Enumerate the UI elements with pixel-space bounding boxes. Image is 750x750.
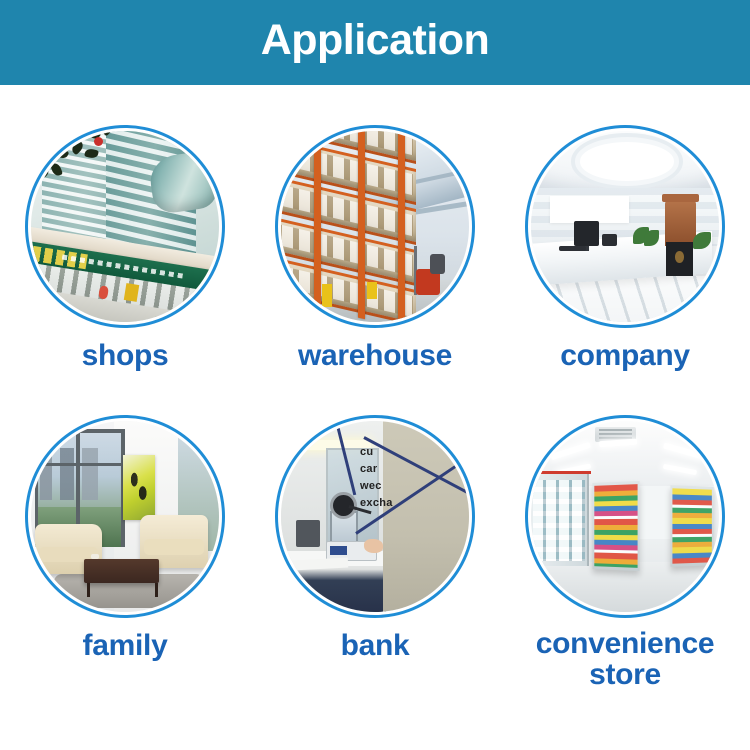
photo-warehouse [281, 131, 469, 322]
company-monitor [574, 221, 598, 246]
store-snack-shelving [593, 481, 640, 571]
company-bronze-ornament [665, 200, 697, 246]
page-title: Application [261, 19, 490, 62]
company-desk-device [602, 234, 617, 245]
page-header-banner: Application [0, 0, 750, 85]
company-keyboard [559, 246, 585, 252]
photo-company [531, 131, 719, 322]
shops-foliage [31, 131, 136, 219]
warehouse-rack-guard [322, 284, 331, 307]
circle-frame-shops [25, 125, 225, 328]
company-pedestal [666, 242, 692, 276]
application-grid: shops [0, 95, 750, 675]
photo-convenience-store [531, 421, 719, 612]
bank-wall-signage-text: cu car wec excha [360, 444, 465, 512]
photo-family [31, 421, 219, 612]
store-red-trim [531, 471, 591, 475]
card-label-convenience-store: convenience store [505, 628, 745, 690]
application-card-family: family [0, 385, 250, 675]
warehouse-rack-guard [367, 282, 376, 299]
circle-frame-warehouse [275, 125, 475, 328]
warehouse-forklift [413, 246, 447, 296]
circle-frame-convenience-store [525, 415, 725, 618]
card-label-warehouse: warehouse [255, 340, 495, 371]
warehouse-racking [281, 131, 416, 322]
card-label-shops: shops [5, 340, 245, 371]
photo-bank: cu car wec excha [281, 421, 469, 612]
company-ceiling-light [580, 142, 674, 180]
shops-poster-yellow [124, 283, 140, 302]
application-card-bank: cu car wec excha bank [250, 385, 500, 675]
application-card-company: company [500, 95, 750, 385]
application-card-warehouse: warehouse [250, 95, 500, 385]
circle-frame-family [25, 415, 225, 618]
card-label-family: family [5, 630, 245, 661]
application-card-convenience-store: convenience store [500, 385, 750, 675]
card-label-company: company [505, 340, 745, 371]
application-card-shops: shops [0, 95, 250, 385]
circle-frame-bank: cu car wec excha [275, 415, 475, 618]
store-side-shelving [671, 485, 714, 567]
company-wall-panel [550, 196, 629, 223]
circle-frame-company [525, 125, 725, 328]
photo-shops [31, 131, 219, 322]
card-label-bank: bank [255, 630, 495, 661]
family-coffee-table [84, 559, 159, 584]
bank-teller-hand [364, 539, 383, 552]
bank-monitor [296, 520, 320, 547]
family-wall-art [123, 455, 155, 520]
store-refrigerated-cases [531, 474, 589, 566]
